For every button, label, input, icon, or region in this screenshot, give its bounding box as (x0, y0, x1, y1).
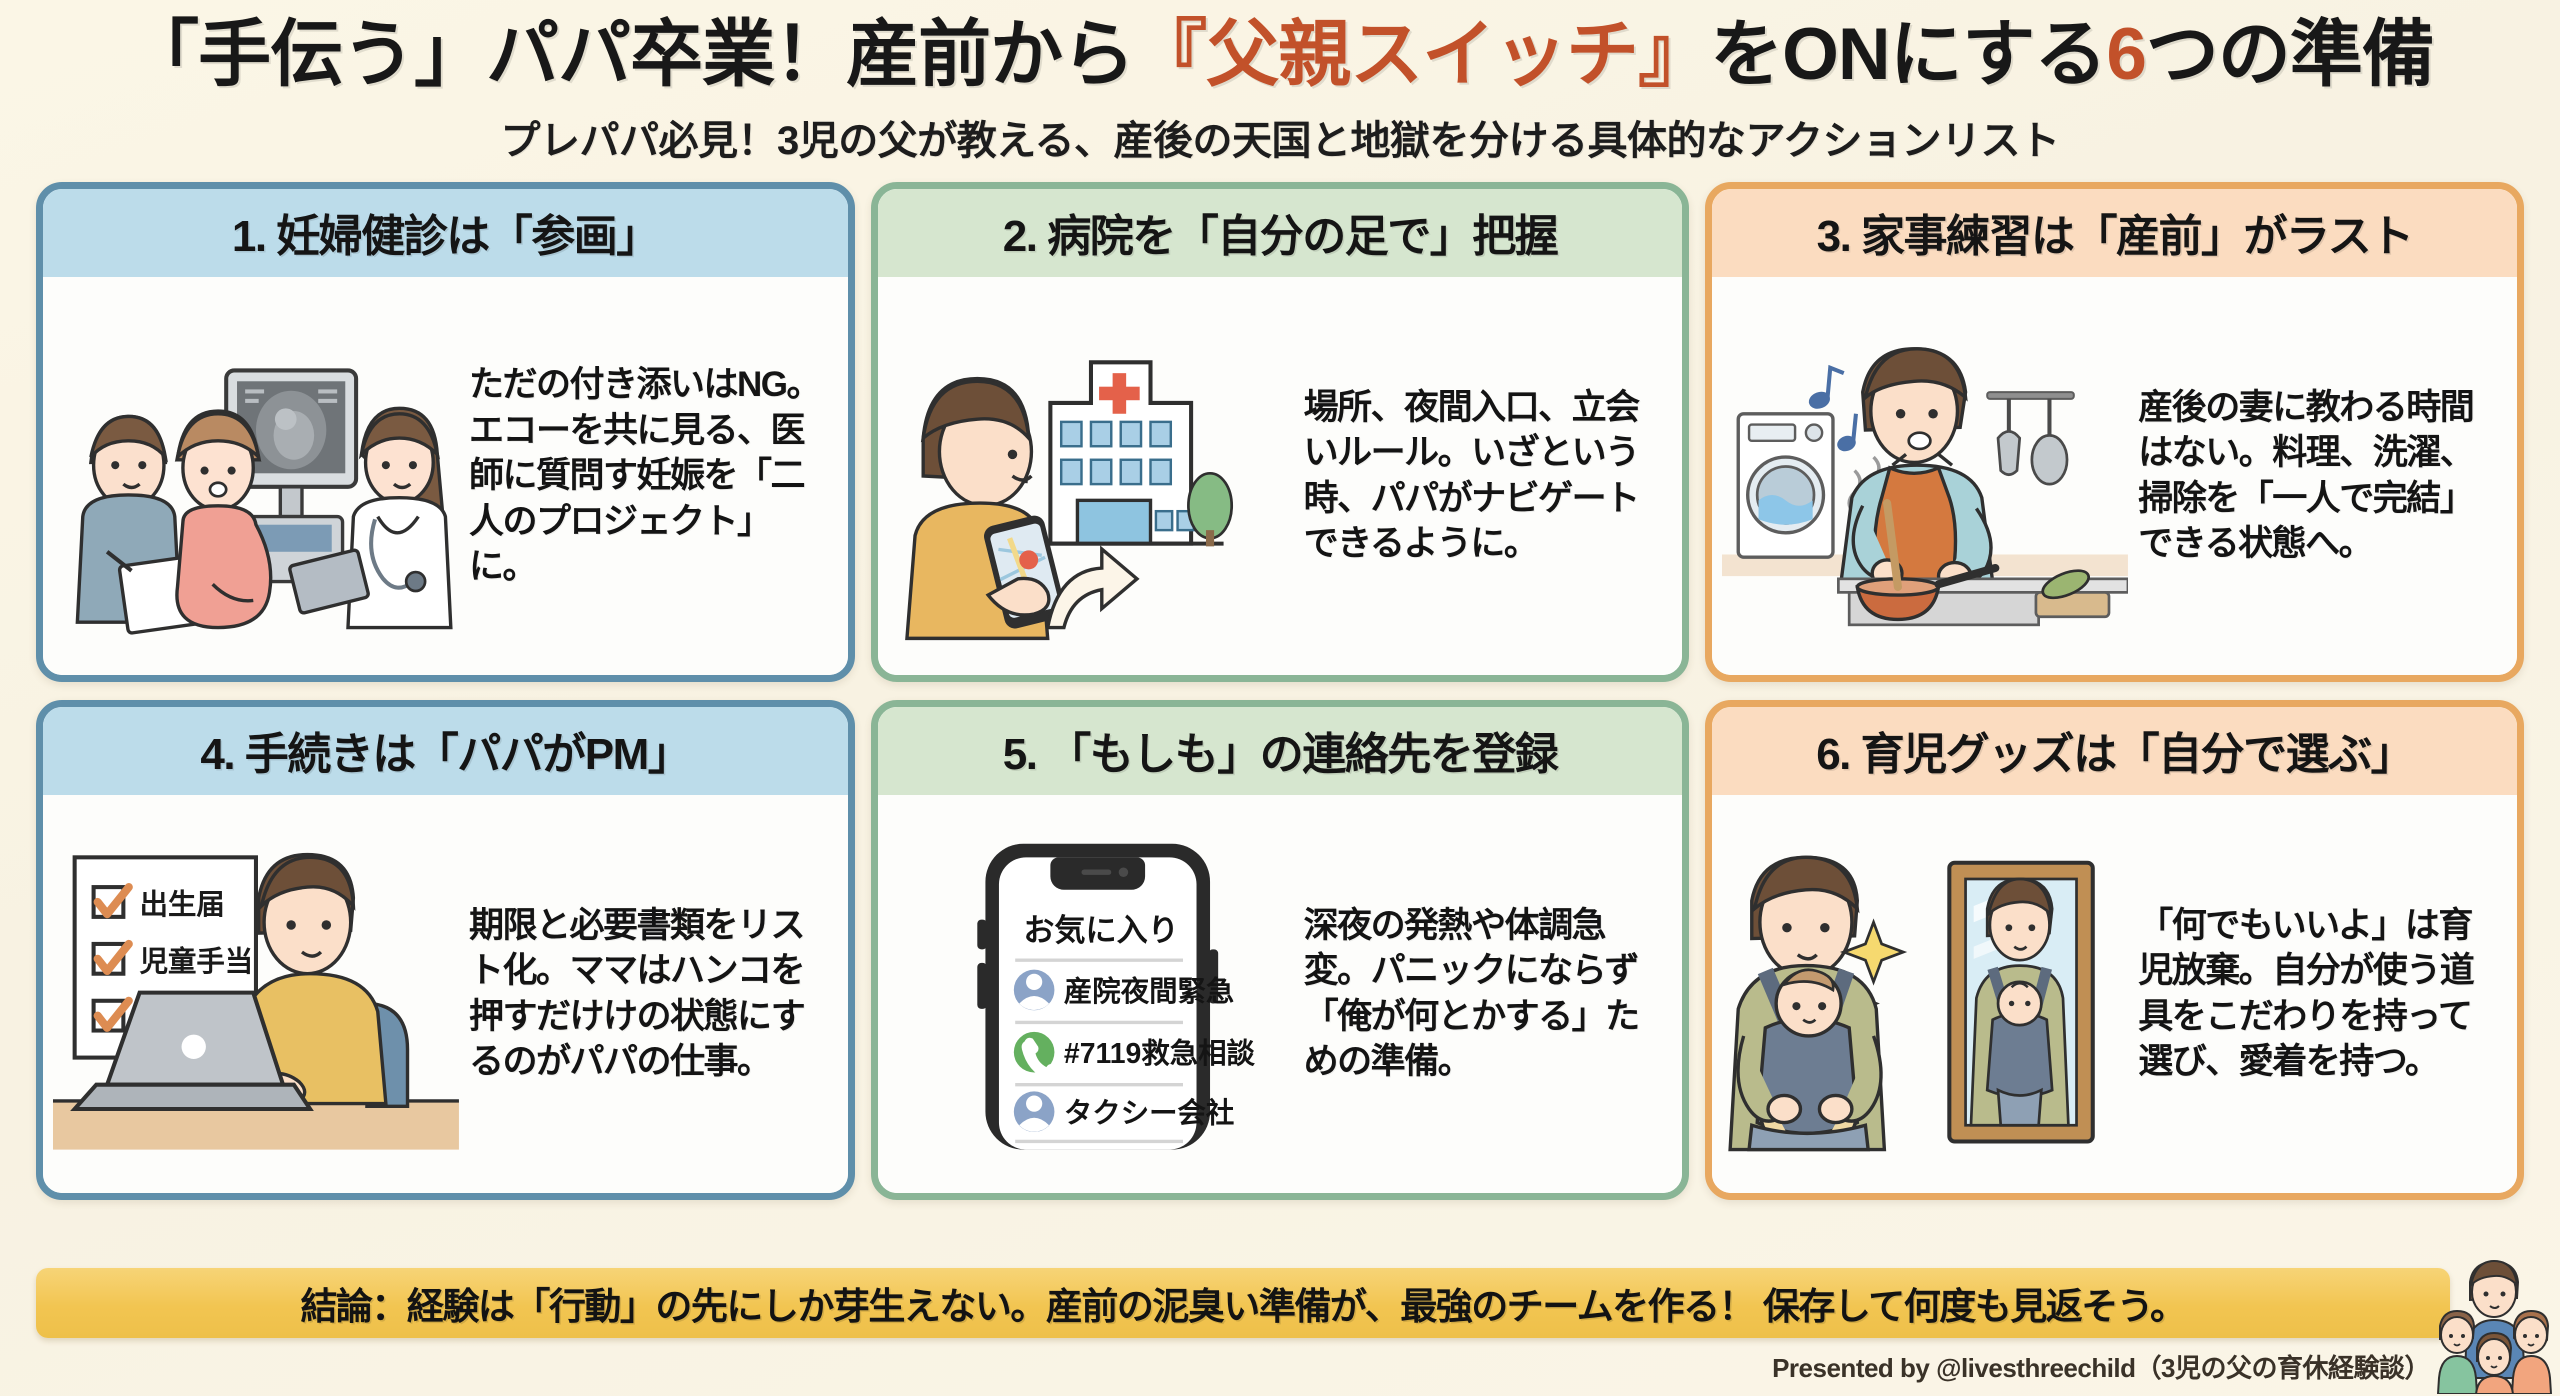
card-3-housework-practice[interactable]: 3. 家事練習は「産前」がラスト (1705, 182, 2524, 682)
card-6-heading: 6. 育児グッズは「自分で選ぶ」 (1712, 707, 2517, 795)
card-5-body: お気に入り 産院夜間緊急 #7119救急相談 (878, 795, 1683, 1193)
checklist-item-1: 出生届 (140, 889, 225, 921)
card-2-description: 場所、夜間入口、立会いルール。いざという時、パパがナビゲートできるように。 (1304, 385, 1669, 567)
card-6-choose-gear[interactable]: 6. 育児グッズは「自分で選ぶ」 (1705, 700, 2524, 1200)
title-segment-3: つの準備 (2146, 14, 2434, 95)
card-6-description: 「何でもいいよ」は育児放棄。自分が使う道具をこだわりを持って選び、愛着を持つ。 (2138, 903, 2503, 1085)
card-4-body: 出生届 児童手当 育休 (43, 795, 848, 1193)
conclusion-banner: 結論：経験は「行動」の先にしか芽生えない。産前の泥臭い準備が、最強のチームを作る… (36, 1268, 2450, 1338)
title-accent-number: 6 (2106, 14, 2146, 95)
hospital-map-phone-illustration (888, 287, 1294, 665)
card-4-paperwork-pm[interactable]: 4. 手続きは「パパがPM」 (36, 700, 855, 1200)
page-subtitle: プレパパ必見！3児の父が教える、産後の天国と地獄を分ける具体的なアクションリスト (40, 108, 2520, 166)
page-title: 「手伝う」パパ卒業！産前から『父親スイッチ』をONにする6つの準備 (40, 14, 2520, 96)
smartphone-contacts-illustration: お気に入り 産院夜間緊急 #7119救急相談 (888, 805, 1294, 1183)
title-segment-1: 「手伝う」パパ卒業！産前から (126, 14, 1134, 95)
card-5-description: 深夜の発熱や体調急変。パニックにならず「俺が何とかする」ための準備。 (1304, 903, 1669, 1085)
card-4-description: 期限と必要書類をリスト化。ママはハンコを押すだけけの状態にするのがパパの仕事。 (469, 903, 834, 1085)
phone-contact-2: #7119救急相談 (1064, 1037, 1256, 1070)
card-1-body: ただの付き添いはNG。エコーを共に見る、医師に質問す妊娠を「二人のプロジェクト」… (43, 277, 848, 675)
phone-contact-1: 産院夜間緊急 (1064, 975, 1234, 1008)
card-1-prenatal-checkup[interactable]: 1. 妊婦健診は「参画」 (36, 182, 855, 682)
dad-babycarrier-mirror-illustration (1722, 805, 2128, 1183)
card-2-body: 場所、夜間入口、立会いルール。いざという時、パパがナビゲートできるように。 (878, 277, 1683, 675)
card-3-heading: 3. 家事練習は「産前」がラスト (1712, 189, 2517, 277)
phone-screen-title: お気に入り (1023, 913, 1179, 948)
card-6-body: 「何でもいいよ」は育児放棄。自分が使う道具をこだわりを持って選び、愛着を持つ。 (1712, 795, 2517, 1193)
card-2-hospital-scouting[interactable]: 2. 病院を「自分の足で」把握 (871, 182, 1690, 682)
checklist-item-2: 児童手当 (140, 945, 254, 978)
family-avatar-illustration (2434, 1252, 2554, 1394)
card-5-heading: 5. 「もしも」の連絡先を登録 (878, 707, 1683, 795)
ultrasound-checkup-illustration (53, 287, 459, 665)
card-1-heading: 1. 妊婦健診は「参画」 (43, 189, 848, 277)
title-segment-2: をONにする (1710, 14, 2106, 95)
card-3-body: 産後の妻に教わる時間はない。料理、洗濯、掃除を「一人で完結」できる状態へ。 (1712, 277, 2517, 675)
laptop-checklist-illustration: 出生届 児童手当 育休 (53, 805, 459, 1183)
credit-line: Presented by @livesthreechild（3児の父の育休経験談… (1772, 1348, 2430, 1385)
card-1-description: ただの付き添いはNG。エコーを共に見る、医師に質問す妊娠を「二人のプロジェクト」… (469, 362, 834, 590)
card-5-emergency-contacts[interactable]: 5. 「もしも」の連絡先を登録 お気に入り (871, 700, 1690, 1200)
cooking-laundry-illustration (1722, 287, 2128, 665)
tips-card-grid: 1. 妊婦健診は「参画」 (36, 182, 2524, 1200)
card-3-description: 産後の妻に教わる時間はない。料理、洗濯、掃除を「一人で完結」できる状態へ。 (2138, 385, 2503, 567)
title-accent-switch: 『父親スイッチ』 (1134, 14, 1710, 95)
conclusion-text: 結論：経験は「行動」の先にしか芽生えない。産前の泥臭い準備が、最強のチームを作る… (300, 1276, 2185, 1330)
infographic-header: 「手伝う」パパ卒業！産前から『父親スイッチ』をONにする6つの準備 プレパパ必見… (0, 0, 2560, 166)
card-4-heading: 4. 手続きは「パパがPM」 (43, 707, 848, 795)
card-2-heading: 2. 病院を「自分の足で」把握 (878, 189, 1683, 277)
phone-contact-3: タクシー会社 (1064, 1097, 1234, 1129)
